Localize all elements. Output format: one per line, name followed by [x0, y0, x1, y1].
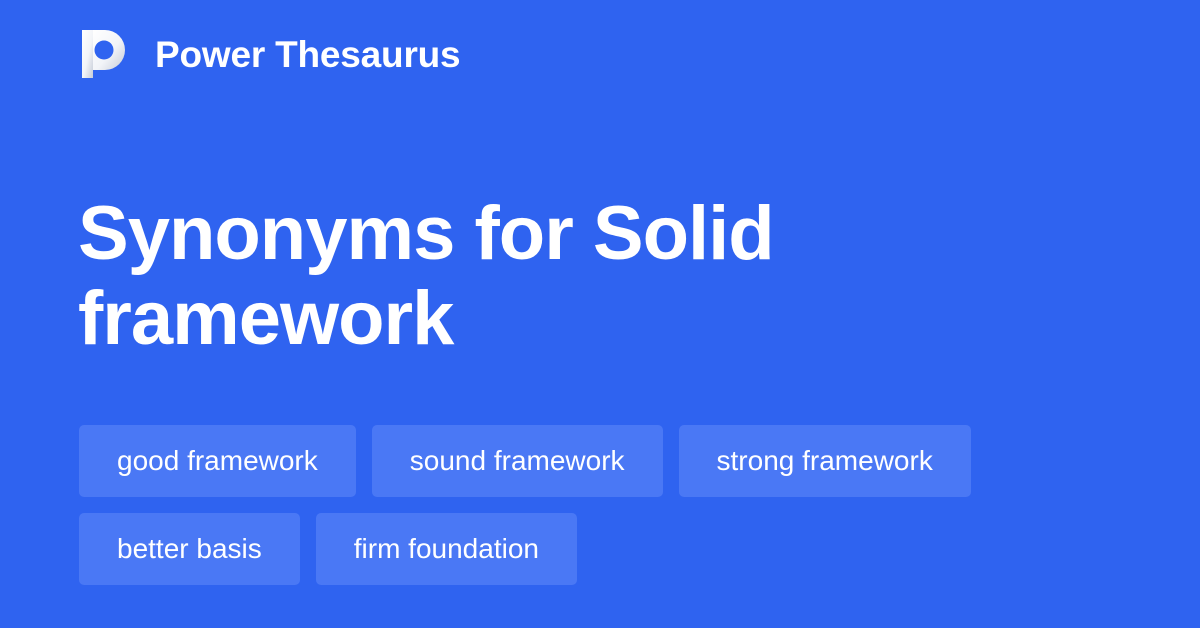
synonym-chip[interactable]: good framework — [79, 425, 356, 497]
share-card: Power Thesaurus Synonyms for Solid frame… — [0, 0, 1200, 628]
synonym-chip[interactable]: sound framework — [372, 425, 663, 497]
page-title: Synonyms for Solid framework — [78, 191, 1138, 361]
brand-name: Power Thesaurus — [155, 36, 460, 73]
power-thesaurus-b-logo-icon — [79, 28, 131, 80]
brand-logo[interactable]: Power Thesaurus — [79, 28, 460, 80]
page-title-line-2: framework — [78, 276, 1138, 361]
synonym-chip[interactable]: firm foundation — [316, 513, 577, 585]
synonym-chip[interactable]: strong framework — [679, 425, 971, 497]
page-title-line-1: Synonyms for Solid — [78, 191, 1138, 276]
synonym-chip[interactable]: better basis — [79, 513, 300, 585]
synonym-chip-list: good framework sound framework strong fr… — [79, 425, 1139, 585]
